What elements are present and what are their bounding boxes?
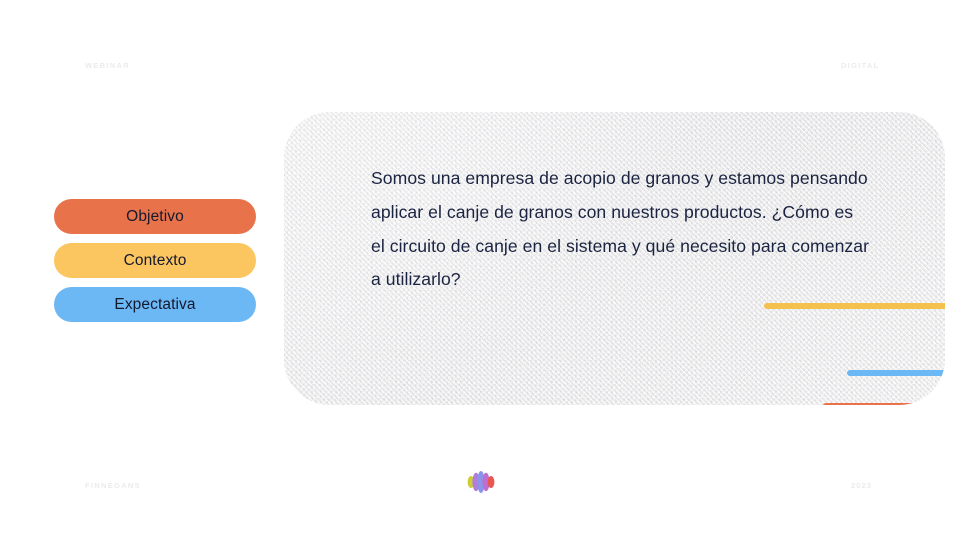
expectativa-highlight	[823, 403, 945, 405]
header-label-right: DIGITAL	[841, 61, 880, 70]
question-text: Somos una empresa de acopio de granos y …	[371, 162, 871, 297]
question-card: Somos una empresa de acopio de granos y …	[284, 112, 945, 405]
contexto-highlight	[847, 370, 945, 376]
category-pill-stack: Objetivo Contexto Expectativa	[54, 199, 256, 322]
pill-contexto-label: Contexto	[124, 252, 187, 270]
footer-year-label: 2023	[851, 481, 872, 490]
finnegans-logo	[466, 469, 496, 495]
pill-expectativa[interactable]: Expectativa	[54, 287, 256, 322]
pill-objetivo-label: Objetivo	[126, 208, 184, 226]
pill-contexto[interactable]: Contexto	[54, 243, 256, 278]
header-label-left: WEBINAR	[85, 61, 130, 70]
pill-objetivo[interactable]: Objetivo	[54, 199, 256, 234]
pill-expectativa-label: Expectativa	[114, 296, 195, 314]
footer-brand-label: FINNEGANS	[85, 481, 141, 490]
objetivo-highlight	[764, 303, 945, 309]
